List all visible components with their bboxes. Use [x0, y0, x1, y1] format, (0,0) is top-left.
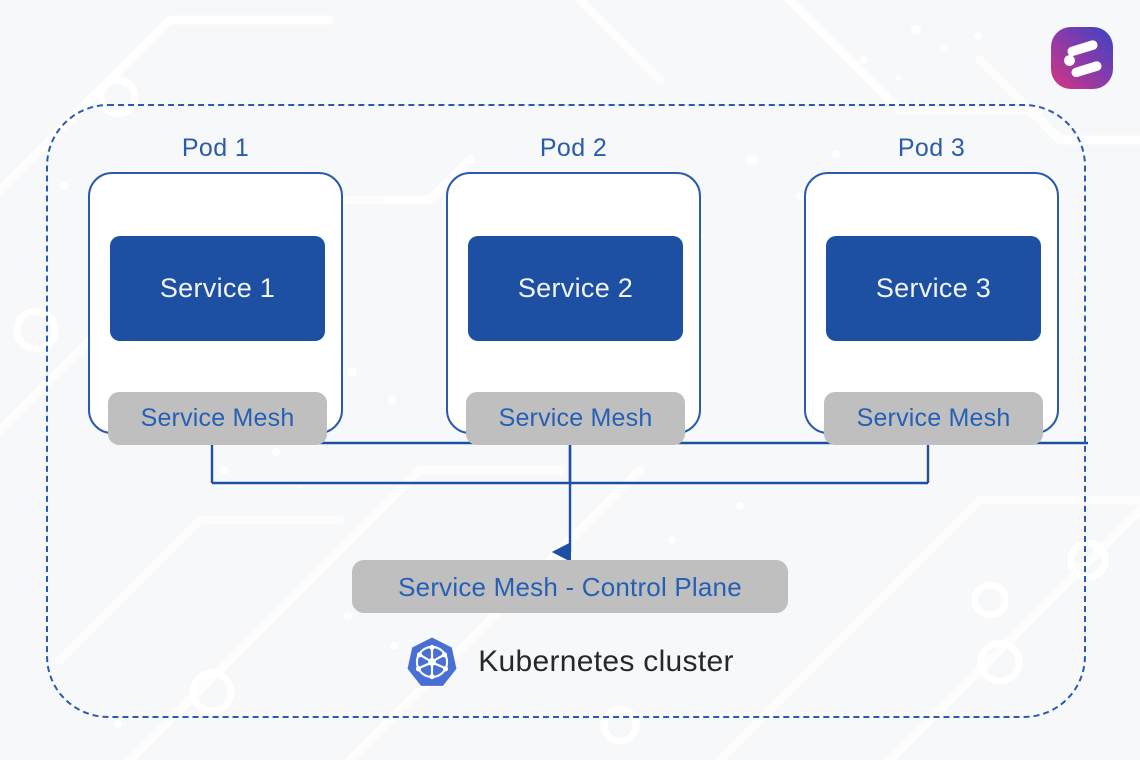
pod-3[interactable]: Pod 3 Service 3 Service Mesh: [804, 136, 1059, 434]
pod-2-service-mesh-label: Service Mesh: [499, 406, 653, 431]
pod-3-container: Service 3 Service Mesh: [804, 172, 1059, 434]
pod-3-service-mesh-box[interactable]: Service Mesh: [824, 392, 1043, 445]
pod-2-container: Service 2 Service Mesh: [446, 172, 701, 434]
cluster-footer: Kubernetes cluster: [355, 634, 785, 690]
pod-1[interactable]: Pod 1 Service 1 Service Mesh: [88, 136, 343, 434]
pod-1-container: Service 1 Service Mesh: [88, 172, 343, 434]
brand-logo-icon[interactable]: [1050, 26, 1114, 90]
service-3-box[interactable]: Service 3: [826, 236, 1041, 341]
pod-2-label: Pod 2: [446, 136, 701, 161]
control-plane-label: Service Mesh - Control Plane: [398, 574, 742, 600]
service-2-label: Service 2: [518, 275, 633, 302]
pod-1-label: Pod 1: [88, 136, 343, 161]
pod-3-service-mesh-label: Service Mesh: [857, 406, 1011, 431]
kubernetes-helm-wheel-icon: [406, 636, 458, 688]
service-1-label: Service 1: [160, 275, 275, 302]
service-2-box[interactable]: Service 2: [468, 236, 683, 341]
cluster-footer-label: Kubernetes cluster: [478, 647, 734, 677]
diagram-canvas: Pod 1 Service 1 Service Mesh Pod 2 Servi…: [0, 0, 1140, 760]
pod-1-service-mesh-box[interactable]: Service Mesh: [108, 392, 327, 445]
service-1-box[interactable]: Service 1: [110, 236, 325, 341]
service-mesh-control-plane-box[interactable]: Service Mesh - Control Plane: [352, 560, 788, 613]
pod-1-service-mesh-label: Service Mesh: [141, 406, 295, 431]
pod-2-service-mesh-box[interactable]: Service Mesh: [466, 392, 685, 445]
service-3-label: Service 3: [876, 275, 991, 302]
pod-3-label: Pod 3: [804, 136, 1059, 161]
pod-2[interactable]: Pod 2 Service 2 Service Mesh: [446, 136, 701, 434]
